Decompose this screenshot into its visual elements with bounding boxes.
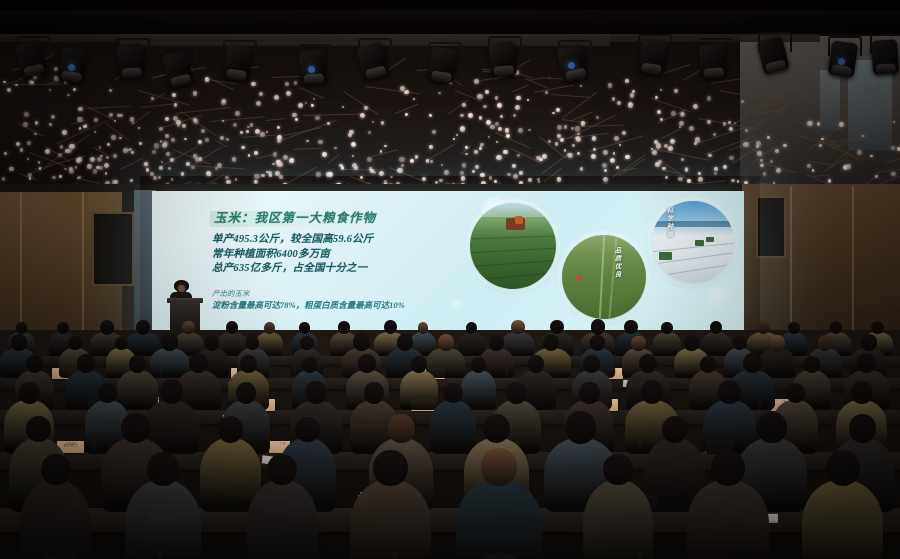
ceiling-branch [299,87,325,99]
ceiling-blossom-light [27,141,31,145]
ceiling-blossom-light [159,166,163,170]
ceiling-blossom-light [893,121,895,123]
ceiling-blossom-light [460,126,465,131]
audience-member-head [443,383,462,403]
ceiling-branch [877,164,900,172]
audience-member-head [826,450,860,486]
audience-member-head [511,320,525,334]
ceiling-blossom-light [483,105,487,109]
ceiling-blossom-light [619,144,622,147]
ceiling-blossom-light [106,156,110,160]
audience-member-head [295,417,319,443]
audience-member-head [121,413,150,443]
ceiling-blossom-light [241,146,244,149]
audience-member-head [757,412,786,443]
ceiling-blossom-light [580,167,584,171]
audience-member-head [718,380,740,404]
ceiling-blossom-light [290,158,295,163]
ceiling-blossom-light [67,94,70,97]
slide-content: 玉米：我区第一大粮食作物 单产495.3公斤，较全国高59.6公斤 常年种植面积… [152,191,744,331]
audience-member-head [711,450,745,486]
ceiling-blossom-light [656,143,661,148]
ceiling-blossom-light [193,91,197,95]
ceiling-blossom-light [580,85,582,87]
ceiling-blossom-light [670,139,675,144]
ceiling-branch [860,80,900,92]
ceiling-blossom-light [235,178,238,181]
presentation-screen: 玉米：我区第一大粮食作物 单产495.3公斤，较全国高59.6公斤 常年种植面积… [152,191,744,331]
ceiling-blossom-light [294,81,297,84]
ceiling-blossom-light [139,142,142,145]
photo1-harvester-cab [515,216,524,224]
ceiling-branch [448,99,469,115]
ceiling-branch [534,85,574,94]
photo2-person [577,275,581,281]
audience-member-head [240,355,257,373]
ceiling-blossom-light [251,82,256,87]
spotlight-lens [304,73,325,84]
ceiling-blossom-light [513,174,518,179]
ceiling-blossom-light [685,167,688,170]
audience-member-head [849,414,876,443]
ceiling-blossom-light [397,168,402,173]
ceiling-branch [365,86,419,94]
ceiling-blossom-light [184,138,187,141]
audience-member-head [98,383,117,403]
spotlight-indicator-glow [68,64,75,71]
ceiling-blossom-light [94,118,98,122]
ceiling-blossom-light [201,129,205,133]
ceiling-blossom-light [757,151,762,156]
audience-member-head [160,379,183,404]
ceiling-blossom-light [99,166,103,170]
ceiling-blossom-light [174,103,178,107]
ceiling-blossom-light [349,130,354,135]
ceiling-blossom-light [217,163,222,168]
ceiling-blossom-light [480,173,485,178]
ceiling-blossom-light [496,155,501,160]
ceiling-blossom-light [460,171,464,175]
ceiling-blossom-light [165,117,169,121]
audience-member-head [353,333,370,351]
audience-member-head [851,381,873,404]
ceiling-blossom-light [177,124,181,128]
ceiling-blossom-light [240,131,243,134]
ceiling-branch [699,126,744,142]
ceiling-branch [798,71,845,109]
audience-member-head [661,322,673,334]
ceiling-blossom-light [564,125,568,129]
slide-sub-line: 淀粉含量最高可达78%，粗蛋白质含量最高可达10% [212,299,492,311]
ceiling-blossom-light [557,177,562,182]
ceiling-blossom-light [441,164,444,167]
slide-title: 玉米：我区第一大粮食作物 [214,210,394,228]
ceiling-branch [210,117,264,123]
ceiling-blossom-light [668,146,673,151]
ceiling-blossom-light [316,172,320,176]
photo3-furrow-3 [652,263,733,277]
ceiling-blossom-light [622,131,626,135]
ceiling-blossom-light [495,122,499,126]
slide-photo-corn-harvest [470,203,556,289]
audience-member-head [57,322,69,334]
conference-hall-photo: 玉米：我区第一大粮食作物 单产495.3公斤，较全国高59.6公斤 常年种植面积… [0,0,900,559]
ceiling-blossom-light [462,103,466,107]
led-screen-frame: 玉米：我区第一大粮食作物 单产495.3公斤，较全国高59.6公斤 常年种植面积… [152,191,744,331]
ceiling-blossom-light [708,154,711,157]
slide-body-line-1: 单产495.3公斤，较全国高59.6公斤 [212,233,472,248]
ceiling-blossom-light [760,164,764,168]
ceiling-blossom-light [819,144,822,147]
spotlight-body [699,43,727,79]
ceiling-blossom-light [235,111,240,116]
ceiling-blossom-light [279,175,283,179]
slide-body-line-3: 总产635亿多斤，占全国十分之一 [212,262,472,277]
ceiling-blossom-light [461,176,465,180]
ceiling-blossom-light [513,114,516,117]
ceiling-blossom-light [52,176,55,179]
ceiling-blossom-light [45,149,50,154]
spotlight-indicator-glow [308,66,315,73]
spotlight-body [638,38,668,75]
audience-member-head [388,414,415,443]
ceiling-blossom-light [49,89,51,91]
ceiling-blossom-light [737,180,740,183]
audience-member-head [631,336,645,351]
ceiling-blossom-light [138,127,140,129]
ceiling-blossom-light [292,113,297,118]
ceiling-blossom-light [360,113,365,118]
ceiling-blossom-light [610,158,615,163]
ceiling-blossom-light [821,138,824,141]
ceiling-blossom-light [500,115,503,118]
ceiling-blossom-light [334,147,337,150]
ceiling-blossom-light [453,138,456,141]
ceiling-blossom-light [351,142,356,147]
ceiling-blossom-light [104,163,109,168]
ceiling-blossom-light [131,151,133,153]
audience-member-head [543,334,559,351]
ceiling-blossom-light [479,116,483,120]
slide-body-line-2: 常年种植面积6400多万亩 [212,248,472,263]
ceiling-blossom-light [479,147,483,151]
ceiling-blossom-light [69,169,74,174]
ceiling-blossom-light [83,125,86,128]
ceiling-blossom-light [731,179,735,183]
wall-recess-panel [92,212,134,286]
ceiling-blossom-light [807,121,812,126]
ceiling-blossom-light [571,127,574,130]
ceiling-blossom-light [222,120,225,123]
ceiling-blossom-light [381,121,384,124]
audience-member-head [641,380,664,404]
ceiling-blossom-light [313,98,315,100]
ceiling-blossom-light [681,158,684,161]
ceiling-blossom-light [20,148,23,151]
audience-member-head [11,334,27,350]
ceiling-blossom-light [575,136,580,141]
ceiling-branch [870,101,900,117]
ceiling-blossom-light [770,160,773,163]
ceiling-blossom-light [472,170,475,173]
ceiling-blossom-light [465,146,468,149]
ceiling-blossom-light [254,180,257,183]
photo1-sky [470,203,556,217]
ceiling-blossom-light [285,82,289,86]
spotlight-body [871,39,899,75]
ceiling-blossom-light [875,175,878,178]
ceiling-blossom-light [311,104,315,108]
ceiling-blossom-light [444,170,449,175]
ceiling-blossom-light [556,108,560,112]
ceiling-blossom-light [9,167,14,172]
ceiling-blossom-light [152,150,156,154]
ceiling-blossom-light [745,129,748,132]
ceiling-blossom-light [536,156,541,161]
ceiling-blossom-light [54,67,58,71]
ceiling-blossom-light [114,120,116,122]
ceiling-blossom-light [497,103,502,108]
audience-member [456,480,542,559]
photo1-crop-row-2 [470,247,556,254]
ceiling-blossom-light [318,140,323,145]
ceiling-blossom-light [674,89,678,93]
audience-member [117,370,158,410]
ceiling-blossom-light [660,89,662,91]
slide-photo-green-field [562,235,646,319]
ceiling-blossom-light [360,176,363,179]
ceiling-blossom-light [741,100,744,103]
ceiling-blossom-light [516,96,521,101]
audience-member-head [236,382,256,404]
ceiling-blossom-light [120,114,123,117]
audience-area: 广州市盛达粮油有限公司广州广东粮储有限公司广州市嘉迅贸易有限公司广州市金穗源贸易… [0,330,900,559]
audience-member [687,480,769,559]
ceiling-blossom-light [97,157,102,162]
ceiling-blossom-light [62,130,67,135]
slide-body-text: 单产495.3公斤，较全国高59.6公斤 常年种植面积6400多万亩 总产635… [212,233,472,277]
ceiling-blossom-light [714,172,717,175]
ceiling-blossom-light [528,129,530,131]
ceiling-branch [495,132,531,149]
ceiling-blossom-light [144,162,148,166]
ceiling-blossom-light [462,163,467,168]
audience-member-head [19,382,40,404]
ceiling-blossom-light [490,125,494,129]
ceiling-blossom-light [538,181,540,183]
ceiling-blossom-light [111,135,116,140]
wall-recess-panel-right [756,196,786,258]
ceiling-blossom-light [679,126,681,128]
ceiling-branch [141,103,173,107]
ceiling-blossom-light [78,176,81,179]
ceiling-blossom-light [625,79,629,83]
ceiling-blossom-light [341,166,345,170]
audience-member-head [743,353,762,373]
spotlight-indicator-glow [568,62,575,69]
spotlight-body [489,41,517,77]
ceiling-blossom-light [591,154,596,159]
audience-member-head [861,334,876,350]
ceiling-blossom-light [432,130,436,134]
audience-member-head [662,416,688,443]
ceiling-blossom-light [113,154,117,158]
audience-member-head [182,321,194,334]
ceiling-blossom-light [857,150,862,155]
ceiling-blossom-light [260,132,265,137]
ceiling-blossom-light [250,123,254,127]
ceiling-blossom-light [680,112,685,117]
ceiling-blossom-light [429,114,432,117]
photo1-crop-row-1 [470,235,556,240]
ceiling-blossom-light [94,131,96,133]
ceiling-blossom-light [560,138,564,142]
ceiling-blossom-light [342,106,344,108]
ceiling-blossom-light [625,155,630,160]
ceiling-blossom-light [154,143,159,148]
ceiling-branch [551,94,590,98]
ceiling-blossom-light [477,94,482,99]
audience-member-head [438,334,454,351]
ceiling-branch [389,167,421,180]
ceiling-blossom-light [352,155,354,157]
ceiling-blossom-light [354,166,358,170]
ceiling-blossom-light [807,164,812,169]
photo1-crop-row-3 [470,259,556,268]
ceiling-branch [557,133,608,140]
ceiling-blossom-light [372,121,374,123]
ceiling-blossom-light [401,164,404,167]
audience-member [583,480,654,559]
ceiling-blossom-light [527,99,529,101]
ceiling-blossom-light [274,95,279,100]
ceiling-blossom-light [528,178,532,182]
ceiling-top-shadow [0,0,900,10]
ceiling-blossom-light [27,158,29,160]
ceiling-blossom-light [616,166,619,169]
ceiling-blossom-light [628,102,633,107]
ceiling-blossom-light [689,126,694,131]
ceiling-blossom-light [517,154,519,156]
ceiling-blossom-light [232,157,237,162]
ceiling-blossom-light [29,177,32,180]
ceiling-blossom-light [602,163,607,168]
ceiling-blossom-light [109,89,112,92]
ceiling-blossom-light [273,152,278,157]
ceiling-blossom-light [119,137,122,140]
ceiling-blossom-light [205,77,209,81]
audience-member-head [68,336,81,350]
spotlight-lens [494,65,515,76]
ceiling-blossom-light [557,125,562,130]
ceiling-blossom-light [256,101,261,106]
audience-member-head [489,335,504,350]
ceiling-blossom-light [364,106,368,110]
ceiling-blossom-light [159,127,163,131]
audience-member-head [770,335,785,351]
ceiling-blossom-light [604,169,607,172]
ceiling-blossom-light [630,93,635,98]
audience-member-head [481,448,517,486]
ceiling-branch [242,135,275,138]
spotlight-lens [704,67,725,78]
ceiling-blossom-light [714,167,718,171]
ceiling-branch [293,148,322,150]
ceiling-blossom-light [286,91,291,96]
ceiling-blossom-light [480,143,484,147]
ceiling-blossom-light [220,136,224,140]
ceiling-blossom-light [105,172,107,174]
ceiling-blossom-light [87,164,92,169]
audience-member [426,348,465,378]
ceiling-blossom-light [261,174,264,177]
ceiling-branch [105,123,129,141]
ceiling-blossom-light [577,152,580,155]
ceiling-blossom-light [760,159,763,162]
ceiling-blossom-light [783,144,786,147]
ceiling-branch [512,85,529,92]
ceiling-blossom-light [328,172,333,177]
audience-member-head [624,320,638,334]
ceiling-blossom-light [373,171,376,174]
audience-member-head [397,334,413,351]
audience-member-head [161,333,178,351]
ceiling-blossom-light [283,155,288,160]
ceiling-blossom-light [315,116,320,121]
ceiling-blossom-light [603,150,608,155]
ceiling-blossom-light [295,118,298,121]
audience-member-head [603,454,633,485]
audience-member-head [115,337,128,350]
ceiling-blossom-light [572,144,576,148]
ceiling-blossom-light [24,112,29,117]
ceiling-blossom-light [723,122,727,126]
audience-member-head [483,414,510,443]
ceiling-blossom-light [612,97,616,101]
ceiling-blossom-light [399,157,404,162]
ceiling-blossom-light [93,169,98,174]
ceiling-blossom-light [233,123,237,127]
ceiling-branch [387,58,406,71]
audience-member-head [579,382,600,404]
speaker-face [178,285,185,292]
ceiling-blossom-light [515,105,520,110]
ceiling-blossom-light [49,123,52,126]
ceiling-blossom-light [205,138,209,142]
ceiling-blossom-light [90,157,95,162]
ceiling-blossom-light [729,156,733,160]
ceiling-blossom-light [269,174,272,177]
ceiling-blossom-light [266,171,268,173]
ceiling-blossom-light [495,96,499,100]
audience-member-head [136,320,150,335]
ceiling-blossom-light [456,134,458,136]
ceiling-blossom-light [422,177,426,181]
ceiling-blossom-light [191,166,194,169]
ceiling-blossom-light [146,168,149,171]
ceiling-blossom-light [698,177,703,182]
ceiling-blossom-light [548,140,551,143]
ceiling-blossom-light [614,136,619,141]
audience-member-head [26,416,51,442]
ceiling-blossom-light [254,151,259,156]
ceiling-blossom-light [266,131,269,134]
ceiling-blossom-light [322,152,327,157]
ceiling-blossom-light [552,112,555,115]
ceiling-blossom-light [31,81,34,84]
ceiling-blossom-light [64,168,66,170]
ceiling-branch [344,91,379,115]
